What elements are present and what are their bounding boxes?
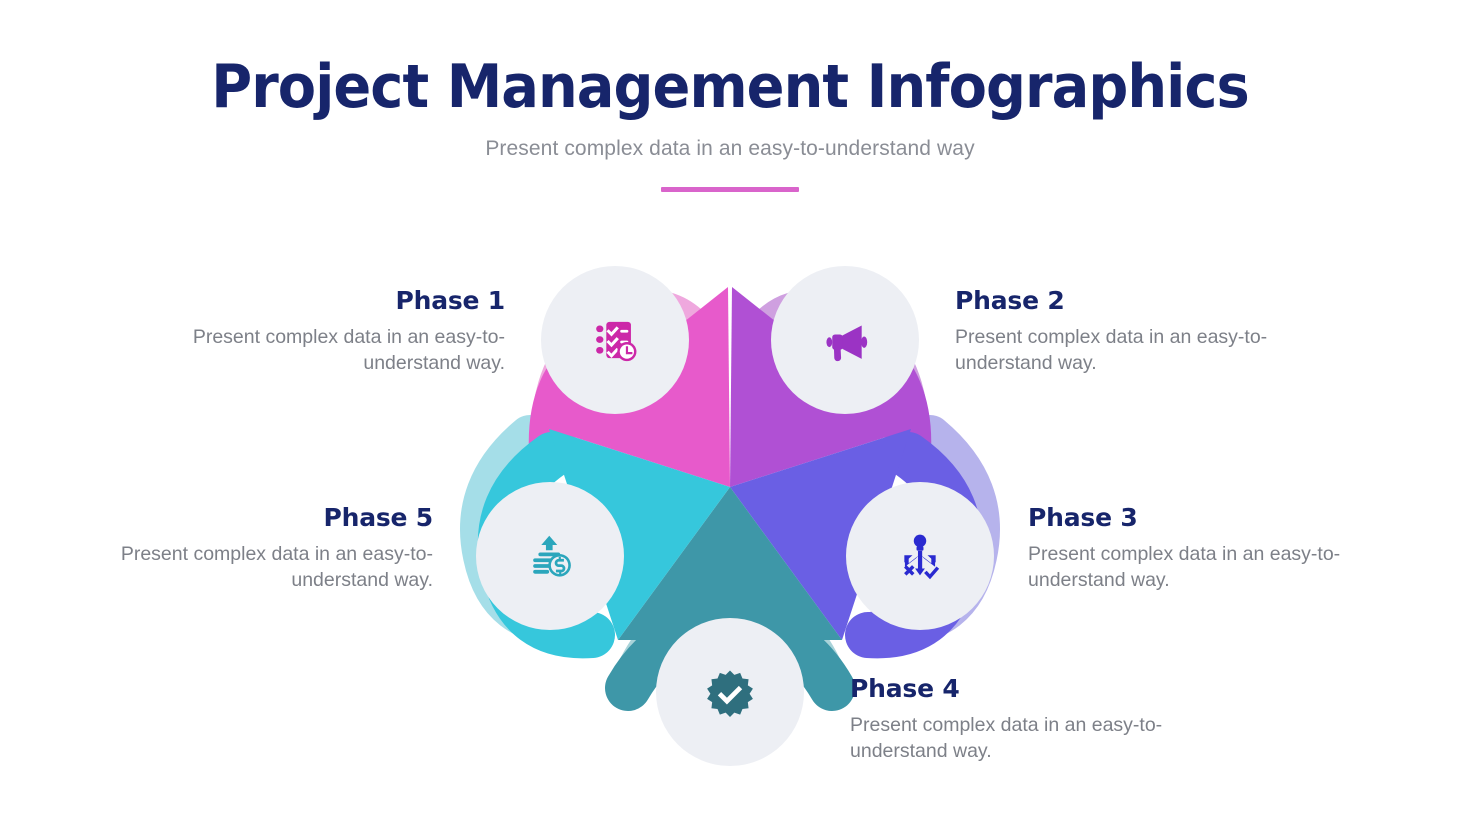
phase-block-5: Phase 5 Present complex data in an easy-… <box>113 503 433 593</box>
phase-block-4: Phase 4 Present complex data in an easy-… <box>850 674 1170 764</box>
phase-description-5: Present complex data in an easy-to-under… <box>113 542 433 593</box>
phase-description-4: Present complex data in an easy-to-under… <box>850 713 1170 764</box>
phase-title-4: Phase 4 <box>850 674 1170 703</box>
phase-description-3: Present complex data in an easy-to-under… <box>1028 542 1348 593</box>
diagram-stage: Phase 1 Present complex data in an easy-… <box>0 0 1460 821</box>
phase-title-3: Phase 3 <box>1028 503 1348 532</box>
phase-block-2: Phase 2 Present complex data in an easy-… <box>955 286 1275 376</box>
phase-block-3: Phase 3 Present complex data in an easy-… <box>1028 503 1348 593</box>
phase-block-1: Phase 1 Present complex data in an easy-… <box>185 286 505 376</box>
phase-title-5: Phase 5 <box>113 503 433 532</box>
phase-title-1: Phase 1 <box>185 286 505 315</box>
phase-description-2: Present complex data in an easy-to-under… <box>955 325 1275 376</box>
phase-title-2: Phase 2 <box>955 286 1275 315</box>
phase-description-1: Present complex data in an easy-to-under… <box>185 325 505 376</box>
